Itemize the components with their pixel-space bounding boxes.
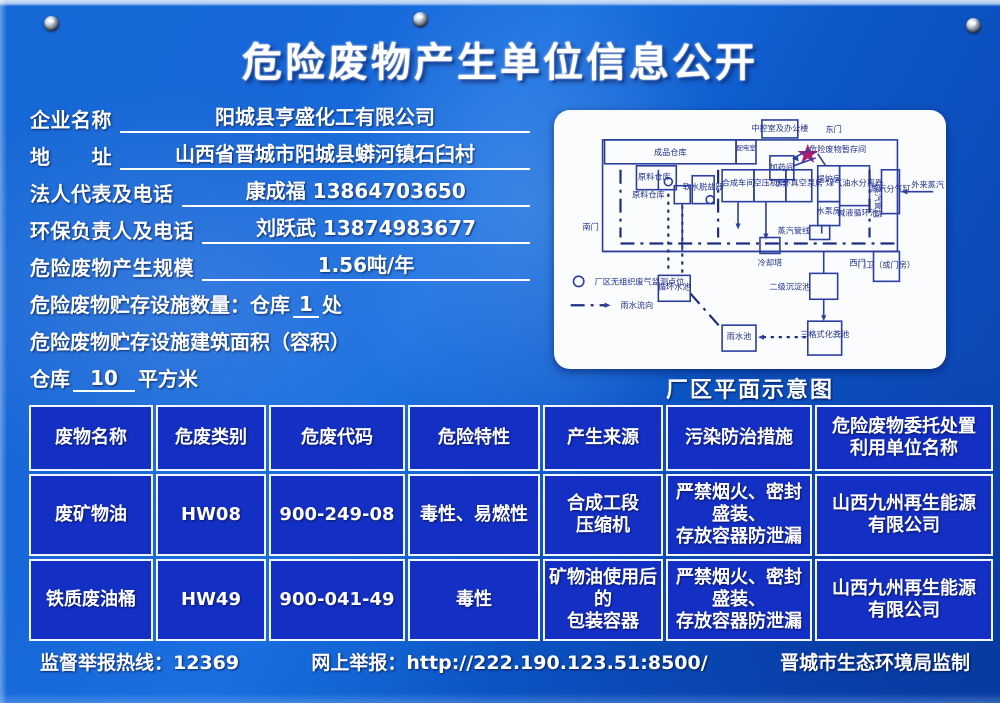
cell-hazard-property: 毒性	[408, 559, 540, 641]
storage-count-suffix: 处	[322, 289, 342, 318]
mounting-bolt-icon	[413, 12, 428, 27]
info-label-company-name: 企业名称	[30, 104, 112, 133]
info-label-address: 地 址	[30, 141, 112, 170]
cell-source: 合成工段压缩机	[543, 474, 663, 556]
info-row-company-name: 企业名称 阳城县亨盛化工有限公司	[30, 96, 530, 133]
cell-waste-code: 900-041-49	[269, 559, 405, 641]
plant-layout-diagram: 成品仓库 配电室 中控室及办公楼 东门 西门 南门 危险废物暂存间 加药间 锅炉…	[554, 110, 946, 369]
hazardous-waste-table: 废物名称 危废类别 危废代码 危险特性 产生来源 污染防治措施 危险废物委托处置…	[26, 402, 996, 644]
cell-control-measures: 严禁烟火、密封盛装、存放容器防泄漏	[666, 474, 812, 556]
footer-authority: 晋城市生态环境局监制	[780, 648, 970, 675]
cell-source: 矿物油使用后的包装容器	[543, 559, 663, 641]
info-label-generation-scale: 危险废物产生规模	[30, 252, 194, 281]
mounting-bolt-icon	[44, 16, 59, 31]
diagram-label-alkali-circulation: 碱液循环池	[837, 208, 878, 218]
cell-control-measures: 严禁烟火、密封盛装、存放容器防泄漏	[666, 559, 812, 641]
diagram-label-gatehouse: 门卫（或门房）	[858, 259, 915, 269]
board-bottom-edge	[0, 693, 1000, 703]
info-label-legal-rep: 法人代表及电话	[30, 178, 174, 207]
storage-area-suffix: 平方米	[138, 363, 198, 392]
info-row-generation-scale: 危险废物产生规模 1.56吨/年	[30, 244, 530, 281]
cell-disposal-unit: 山西九州再生能源有限公司	[815, 559, 993, 641]
diagram-label-south-gate: 南门	[582, 222, 598, 232]
storage-area-prefix: 仓库	[30, 363, 70, 392]
footer-online-report: 网上举报：http://222.190.123.51:8500/	[311, 648, 707, 675]
info-value-company-name: 阳城县亨盛化工有限公司	[120, 101, 530, 133]
diagram-label-septic-tank: 三格式化粪池	[800, 329, 849, 339]
storage-count-prefix: 危险废物贮存设施数量：仓库	[30, 289, 290, 318]
diagram-label-raw-material-warehouse: 原料仓库	[638, 172, 671, 182]
diagram-label-synthesis-workshop: 合成车间	[722, 178, 755, 188]
diagram-label-steam-pipeline-inner: 蒸汽管线	[778, 226, 811, 236]
info-row-storage-area-title: 危险废物贮存设施建筑面积（容积）	[30, 318, 530, 355]
diagram-label-external-steam: 外来蒸汽	[911, 180, 944, 190]
info-label-env-officer: 环保负责人及电话	[30, 215, 194, 244]
diagram-label-secondary-sedimentation: 二级沉淀池	[769, 281, 810, 291]
footer-bar: 监督举报热线：12369 网上举报：http://222.190.123.51:…	[40, 648, 970, 675]
table-row: 铁质废油桶 HW49 900-041-49 毒性 矿物油使用后的包装容器 严禁烟…	[29, 559, 993, 641]
info-row-storage-area-value: 仓库 10 平方米	[30, 355, 530, 392]
diagram-caption: 厂区平面示意图	[554, 372, 946, 404]
cell-disposal-unit: 山西九州再生能源有限公司	[815, 474, 993, 556]
board-left-edge	[0, 0, 7, 703]
info-value-generation-scale: 1.56吨/年	[202, 249, 530, 281]
info-row-env-officer: 环保负责人及电话 刘跃武 13874983677	[30, 207, 530, 244]
diagram-legend-text-rainwater: 雨水流向	[621, 300, 654, 310]
diagram-label-power-room: 配电室	[736, 143, 755, 152]
plant-layout-svg: 成品仓库 配电室 中控室及办公楼 东门 西门 南门 危险废物暂存间 加药间 锅炉…	[554, 110, 946, 369]
info-value-address: 山西省晋城市阳城县蟒河镇石臼村	[120, 138, 530, 170]
information-board: 危险废物产生单位信息公开 企业名称 阳城县亨盛化工有限公司 地 址 山西省晋城市…	[0, 0, 1000, 703]
board-top-edge	[0, 0, 1000, 6]
cell-waste-category: HW49	[156, 559, 266, 641]
info-value-legal-rep: 康成福 13864703650	[182, 175, 531, 207]
info-row-address: 地 址 山西省晋城市阳城县蟒河镇石臼村	[30, 133, 530, 170]
diagram-label-rain-water-pool: 雨水池	[727, 331, 751, 341]
diagram-label-east-gate: 东门	[826, 124, 842, 134]
table-header-waste-category: 危废类别	[156, 405, 266, 471]
table-header-row: 废物名称 危废类别 危废代码 危险特性 产生来源 污染防治措施 危险废物委托处置…	[29, 405, 993, 471]
table-header-waste-name: 废物名称	[29, 405, 153, 471]
cell-waste-name: 铁质废油桶	[29, 559, 153, 641]
table-row: 废矿物油 HW08 900-249-08 毒性、易燃性 合成工段压缩机 严禁烟火…	[29, 474, 993, 556]
info-row-legal-rep: 法人代表及电话 康成福 13864703650	[30, 170, 530, 207]
storage-area-title: 危险废物贮存设施建筑面积（容积）	[30, 326, 350, 355]
diagram-label-hw-temp-storage: 危险废物暂存间	[809, 144, 866, 154]
diagram-label-steam-pipeline: 蒸汽管线	[874, 185, 884, 218]
storage-area-value: 10	[73, 366, 135, 392]
footer-hotline: 监督举报热线：12369	[40, 648, 239, 675]
cell-waste-code: 900-249-08	[269, 474, 405, 556]
page-title: 危险废物产生单位信息公开	[0, 30, 1000, 88]
table-header-control-measures: 污染防治措施	[666, 405, 812, 471]
diagram-label-vacuum-pump-room: 水环真空泵房	[774, 178, 823, 188]
diagram-legend-text-monitoring: 厂区无组织废气监测点位	[595, 276, 685, 286]
diagram-label-finished-goods: 成品仓库	[654, 147, 687, 157]
cell-waste-category: HW08	[156, 474, 266, 556]
info-row-storage-count: 危险废物贮存设施数量：仓库 1 处	[30, 281, 530, 318]
cell-hazard-property: 毒性、易燃性	[408, 474, 540, 556]
diagram-label-raw-material-inner: 原料仓库	[632, 190, 665, 200]
table-header-waste-code: 危废代码	[269, 405, 405, 471]
cell-waste-name: 废矿物油	[29, 474, 153, 556]
table-header-source: 产生来源	[543, 405, 663, 471]
diagram-label-cooling-tower: 冷却塔	[758, 257, 782, 267]
diagram-label-control-room: 中控室及办公楼	[751, 123, 808, 133]
table-header-hazard-property: 危险特性	[408, 405, 540, 471]
info-value-env-officer: 刘跃武 13874983677	[202, 212, 530, 244]
storage-count-value: 1	[293, 292, 319, 318]
company-info-block: 企业名称 阳城县亨盛化工有限公司 地 址 山西省晋城市阳城县蟒河镇石臼村 法人代…	[30, 96, 530, 392]
table-header-disposal-unit: 危险废物委托处置利用单位名称	[815, 405, 993, 471]
